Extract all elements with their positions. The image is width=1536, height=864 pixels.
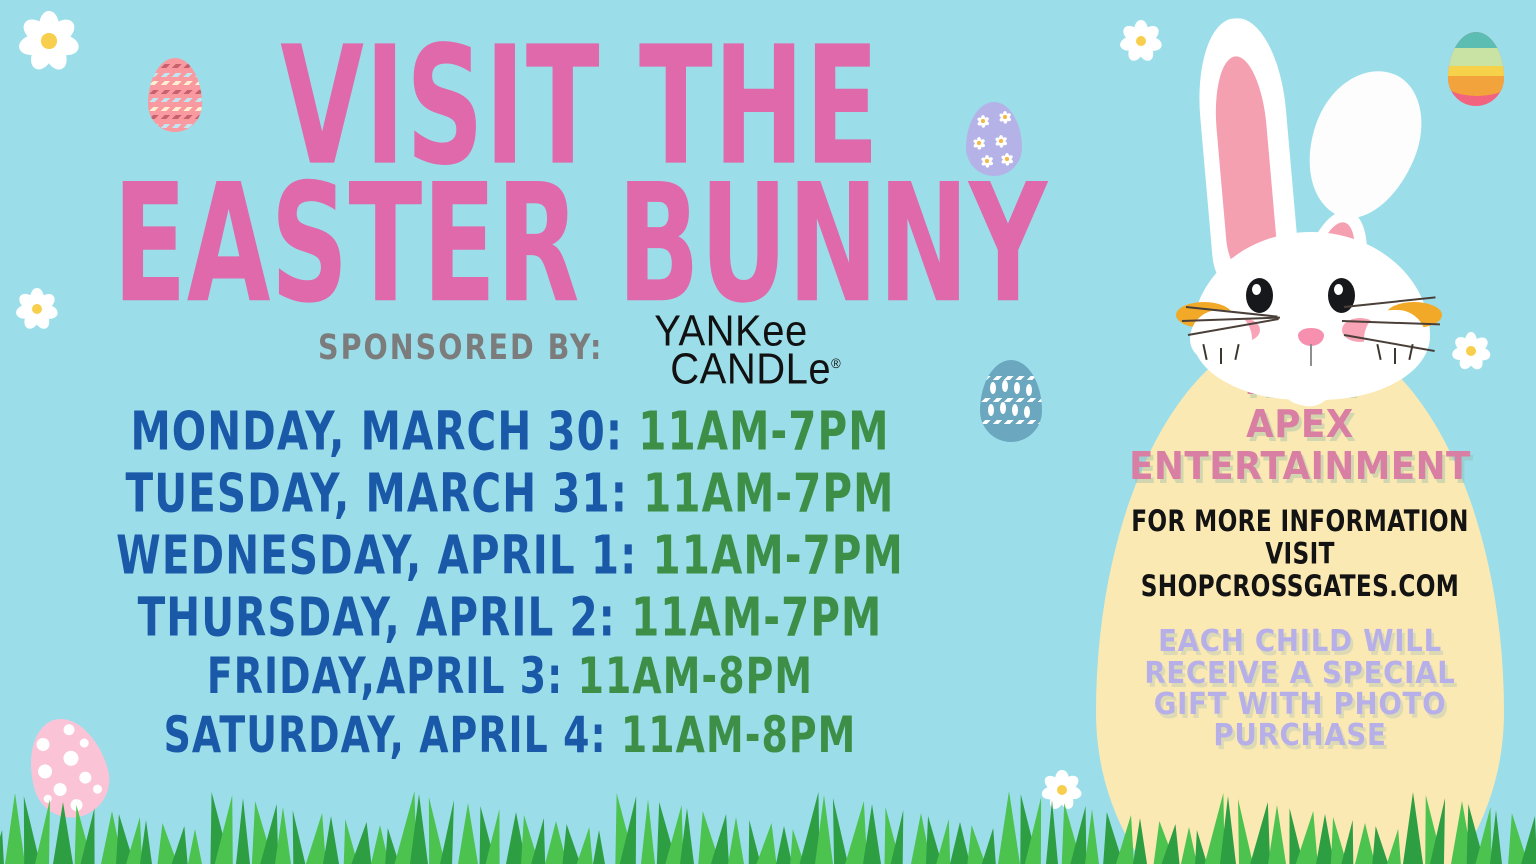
egg-dot <box>1002 380 1008 392</box>
gift-line-3: GIFT WITH PHOTO <box>1112 689 1487 720</box>
egg-dot <box>1014 382 1020 394</box>
schedule-time: 11AM-7PM <box>643 462 894 525</box>
info-line-2: VISIT SHOPCROSSGATES.COM <box>1125 539 1476 604</box>
egg-stripe <box>980 398 1042 402</box>
schedule-time: 11AM-7PM <box>653 524 904 587</box>
schedule-time: 11AM-7PM <box>638 400 889 463</box>
yankee-candle-logo: YANKee CANDLe® <box>654 308 841 388</box>
list-item: FRIDAY,APRIL 3: 11AM-8PM <box>61 653 959 703</box>
egg-dot <box>1026 384 1032 396</box>
registered-mark-icon: ® <box>831 355 841 371</box>
daisy-center <box>41 33 57 49</box>
easter-bunny-icon <box>1168 10 1468 380</box>
schedule-date: WEDNESDAY, APRIL 1: <box>116 524 637 587</box>
bunny-eye-right <box>1328 278 1355 313</box>
grass-blade <box>323 816 339 864</box>
logo-line-2: CANDLe® <box>670 348 841 391</box>
info-egg-panel: NEAR APEX ENTERTAINMENT FOR MORE INFORMA… <box>1096 328 1504 864</box>
grass-blade <box>440 800 460 864</box>
headline-line-2: EASTER BUNNY <box>104 176 1055 313</box>
gift-line-4: PURCHASE <box>1112 720 1487 751</box>
gift-note-text: EACH CHILD WILL RECEIVE A SPECIAL GIFT W… <box>1112 626 1487 751</box>
grass-blade <box>1368 826 1389 864</box>
grass-blade <box>593 830 605 864</box>
bunny-eye-highlight-left <box>1252 284 1261 295</box>
gift-line-1: EACH CHILD WILL <box>1112 626 1487 657</box>
bunny-mouth <box>1310 344 1312 366</box>
bunny-eye-highlight-right <box>1334 284 1343 295</box>
schedule-time: 11AM-8PM <box>578 648 813 706</box>
egg-dot <box>1024 406 1030 418</box>
sponsor-label: SPONSORED BY: <box>318 328 603 368</box>
grass-blade <box>1133 818 1147 864</box>
schedule-date: MONDAY, MARCH 30: <box>130 400 623 463</box>
schedule-date: THURSDAY, APRIL 2: <box>138 586 616 649</box>
list-item: WEDNESDAY, APRIL 1: 11AM-7PM <box>61 528 959 581</box>
schedule-date: TUESDAY, MARCH 31: <box>126 462 628 525</box>
bunny-ear-flop <box>1287 54 1440 234</box>
daisy-icon <box>14 286 60 332</box>
list-item: MONDAY, MARCH 30: 11AM-7PM <box>61 404 959 457</box>
list-item: THURSDAY, APRIL 2: 11AM-7PM <box>61 590 959 643</box>
easter-bunny-poster: VISIT THE EASTER BUNNY SPONSORED BY: YAN… <box>0 0 1536 864</box>
grass-blade <box>728 817 744 864</box>
page-title: VISIT THE EASTER BUNNY <box>104 0 1055 314</box>
gift-line-2: RECEIVE A SPECIAL <box>1112 658 1487 689</box>
grass-blade <box>1490 810 1502 864</box>
schedule-date: SATURDAY, APRIL 4: <box>164 707 607 765</box>
bunny-eye-left <box>1246 278 1273 313</box>
bunny-paw-toe <box>1394 348 1396 364</box>
more-info-text: FOR MORE INFORMATION VISIT SHOPCROSSGATE… <box>1125 506 1476 604</box>
bunny-paw-toe <box>1220 348 1222 364</box>
schedule-date: FRIDAY,APRIL 3: <box>207 648 563 706</box>
schedule-time: 11AM-7PM <box>631 586 882 649</box>
grass-blade <box>188 829 202 864</box>
daisy-icon <box>1118 18 1164 64</box>
sponsor-row: SPONSORED BY: YANKee CANDLe® <box>318 308 841 388</box>
schedule-list: MONDAY, MARCH 30: 11AM-7PM TUESDAY, MARC… <box>0 408 1020 774</box>
grass-blade <box>1521 816 1536 864</box>
location-line-3: ENTERTAINMENT <box>1108 445 1492 488</box>
list-item: SATURDAY, APRIL 4: 11AM-8PM <box>61 712 959 762</box>
egg-stripe <box>980 376 1042 380</box>
info-line-1: FOR MORE INFORMATION <box>1125 506 1476 539</box>
schedule-time: 11AM-8PM <box>621 707 856 765</box>
location-line-2: APEX <box>1108 403 1492 446</box>
egg-dot <box>990 382 996 394</box>
grass-blade <box>140 820 152 864</box>
grass-border <box>0 788 1536 864</box>
list-item: TUESDAY, MARCH 31: 11AM-7PM <box>61 466 959 519</box>
daisy-icon <box>16 8 82 74</box>
